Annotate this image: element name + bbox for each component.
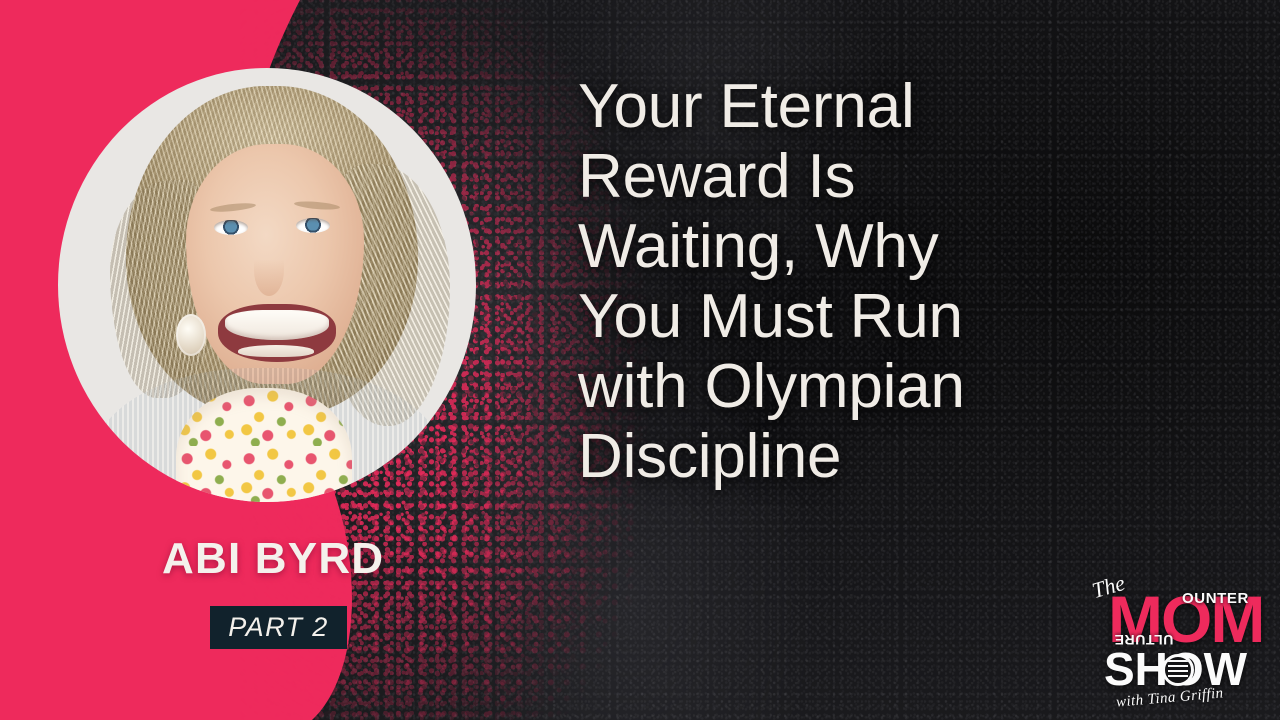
guest-portrait-circle xyxy=(58,68,476,502)
lower-teeth xyxy=(238,345,314,357)
podcast-episode-cover: Your Eternal Reward Is Waiting, Why You … xyxy=(0,0,1280,720)
floral-top xyxy=(176,388,352,502)
show-logo: The MOM OUNTER ULTURE SHOW with Tina Gri… xyxy=(1086,570,1262,706)
eye-left xyxy=(214,220,248,235)
episode-title: Your Eternal Reward Is Waiting, Why You … xyxy=(578,72,1138,492)
microphone-icon xyxy=(1162,654,1194,686)
part-badge: PART 2 xyxy=(210,606,347,649)
part-badge-label: PART 2 xyxy=(228,612,328,643)
logo-counter-text: OUNTER xyxy=(1182,590,1249,607)
nose-shape xyxy=(254,244,284,296)
upper-teeth xyxy=(225,310,329,340)
smiling-mouth xyxy=(218,304,336,362)
guest-name: ABI BYRD xyxy=(162,534,384,584)
earring xyxy=(176,314,206,356)
eye-right xyxy=(296,218,330,233)
guest-portrait-photo xyxy=(58,68,476,502)
